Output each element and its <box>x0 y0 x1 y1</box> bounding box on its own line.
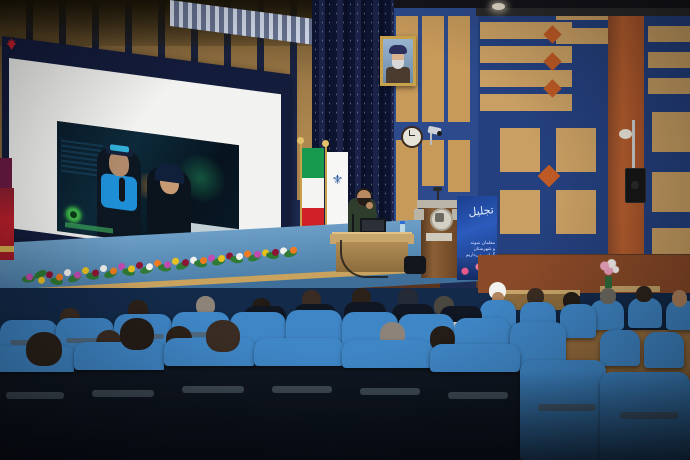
purple-flag <box>0 158 12 192</box>
seat-trim <box>448 392 508 399</box>
seat-trim <box>6 392 64 399</box>
seat-trim <box>182 386 244 393</box>
iran-flag-green <box>302 148 324 178</box>
audience-head <box>636 286 652 302</box>
organization-flag-finial <box>322 140 329 147</box>
camera-lens <box>437 131 442 136</box>
conference-hall-photo: ⚜ تجلیل معلمان نمونه و شهرستان گرامی می‌… <box>0 0 690 460</box>
podium-name-plate <box>426 233 452 241</box>
table-flower-vase <box>598 258 620 278</box>
podium-emblem-inner <box>435 213 444 222</box>
clock-minute-hand <box>409 135 415 136</box>
laptop-screen <box>362 220 384 231</box>
portrait-robe <box>386 67 410 83</box>
wall-panel <box>648 26 690 42</box>
seat-headrest[interactable] <box>74 342 166 370</box>
seat[interactable] <box>600 330 640 366</box>
wall-panel <box>652 172 690 212</box>
wall-portrait <box>380 36 416 86</box>
audience-head <box>600 288 616 304</box>
wall-clock <box>401 126 423 148</box>
seat-headrest[interactable] <box>430 344 520 372</box>
wall-panel <box>652 112 690 152</box>
wall-panel <box>648 78 690 94</box>
wall-panel <box>648 52 690 68</box>
wall-panel <box>500 190 540 234</box>
presenter-hand <box>366 202 373 209</box>
seat[interactable] <box>644 332 684 368</box>
wall-slat <box>448 140 470 192</box>
projection-screen <box>2 36 292 246</box>
organization-flag-logo: ⚜ <box>331 172 344 188</box>
seat-headrest[interactable] <box>254 338 344 366</box>
seat-trim <box>360 388 420 395</box>
ceiling-light <box>492 3 505 10</box>
iran-flag-finial <box>297 137 304 144</box>
audience-head <box>120 318 154 350</box>
wall-slat <box>448 16 470 122</box>
iran-flag-white <box>302 178 324 208</box>
video-microphone <box>119 177 125 202</box>
red-flag-trim <box>0 246 14 252</box>
watermark-inner <box>70 211 77 219</box>
dome-light <box>619 129 632 139</box>
portrait-turban <box>389 45 407 54</box>
wall-panel <box>556 190 596 234</box>
podium-top <box>417 200 461 208</box>
bag-on-stage <box>404 256 426 274</box>
seat-trim <box>620 412 678 419</box>
seat-trim <box>272 386 332 393</box>
wall-slat <box>422 140 444 186</box>
seat[interactable] <box>628 298 662 328</box>
banner-headline: تجلیل <box>457 203 497 243</box>
wall-panel <box>500 128 540 172</box>
wall-panel <box>480 94 572 111</box>
camera-arm <box>430 133 432 145</box>
audience-head <box>206 320 240 352</box>
wall-panel <box>556 128 596 172</box>
wall-panel <box>556 28 608 44</box>
podium-left-arm <box>414 209 424 220</box>
seat-trim <box>538 404 596 411</box>
wall-slat <box>422 16 444 122</box>
loudspeaker-cone <box>631 181 639 189</box>
vase-stems <box>605 276 612 288</box>
audience-head <box>672 290 687 307</box>
seat-headrest[interactable] <box>342 340 432 368</box>
audience-head <box>26 332 62 366</box>
seat-trim <box>92 390 154 397</box>
speaker-mount-pole <box>632 120 635 170</box>
